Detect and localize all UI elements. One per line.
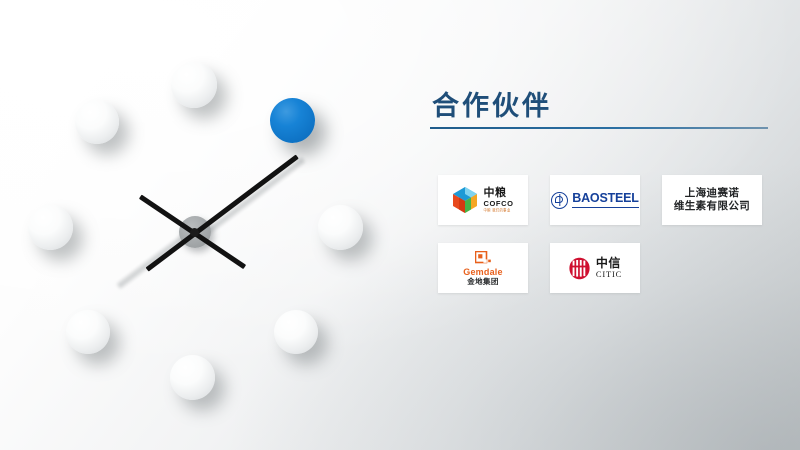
logo-card-shanghai-desano[interactable]: 上海迪赛诺 维生素有限公司 — [662, 175, 762, 225]
baosteel-wordmark: BAOSTEEL — [572, 192, 638, 207]
clock-marker-5 — [274, 310, 318, 354]
cofco-cn-text: 中粮 — [483, 188, 513, 199]
gemdale-mark-icon — [475, 251, 492, 267]
logo-card-cofco[interactable]: 中粮 COFCO 中粮 我们的事业 — [438, 175, 528, 225]
minute-hand-shadow — [199, 157, 305, 239]
cofco-tagline: 中粮 我们的事业 — [483, 209, 513, 213]
page-title: 合作伙伴 — [430, 92, 770, 120]
gemdale-en-text: Gemdale — [463, 268, 502, 277]
hour-hand — [139, 195, 197, 236]
citic-en-text: CITIC — [596, 270, 622, 279]
cofco-cube-icon — [452, 186, 478, 214]
cofco-wordmark: 中粮 COFCO 中粮 我们的事业 — [483, 188, 513, 213]
title-underline — [430, 127, 768, 129]
clock-marker-6 — [170, 355, 215, 400]
clock-hub-cap — [190, 228, 199, 237]
wall-clock-image — [0, 0, 400, 450]
citic-cn-text: 中信 — [596, 257, 622, 270]
clock-marker-11 — [75, 100, 119, 144]
clock-marker-12 — [171, 62, 217, 108]
citic-emblem-icon — [568, 257, 591, 280]
partner-logo-grid: 中粮 COFCO 中粮 我们的事业 BAOSTEEL 上海迪赛诺 维生素有限公司 — [438, 175, 772, 293]
citic-wordmark: 中信 CITIC — [596, 257, 622, 280]
minute-hand — [193, 154, 298, 235]
cofco-en-text: COFCO — [483, 200, 513, 208]
minute-hand-tail — [146, 232, 197, 272]
clock-marker-7 — [66, 310, 110, 354]
hour-hand-tail — [194, 231, 247, 269]
desano-line-2: 维生素有限公司 — [674, 200, 750, 213]
logo-card-gemdale[interactable]: Gemdale 金地集团 — [438, 243, 528, 293]
clock-marker-3 — [318, 205, 363, 250]
gemdale-cn-text: 金地集团 — [467, 278, 499, 286]
logo-card-baosteel[interactable]: BAOSTEEL — [550, 175, 640, 225]
baosteel-emblem-icon — [551, 192, 568, 209]
slide-root: 合作伙伴 中粮 COFCO 中粮 我们的事业 — [0, 0, 800, 450]
clock-marker-1-active — [270, 98, 315, 143]
desano-line-1: 上海迪赛诺 — [685, 187, 740, 200]
clock-marker-9 — [28, 205, 73, 250]
logo-card-citic[interactable]: 中信 CITIC — [550, 243, 640, 293]
partners-panel: 合作伙伴 — [430, 92, 770, 129]
